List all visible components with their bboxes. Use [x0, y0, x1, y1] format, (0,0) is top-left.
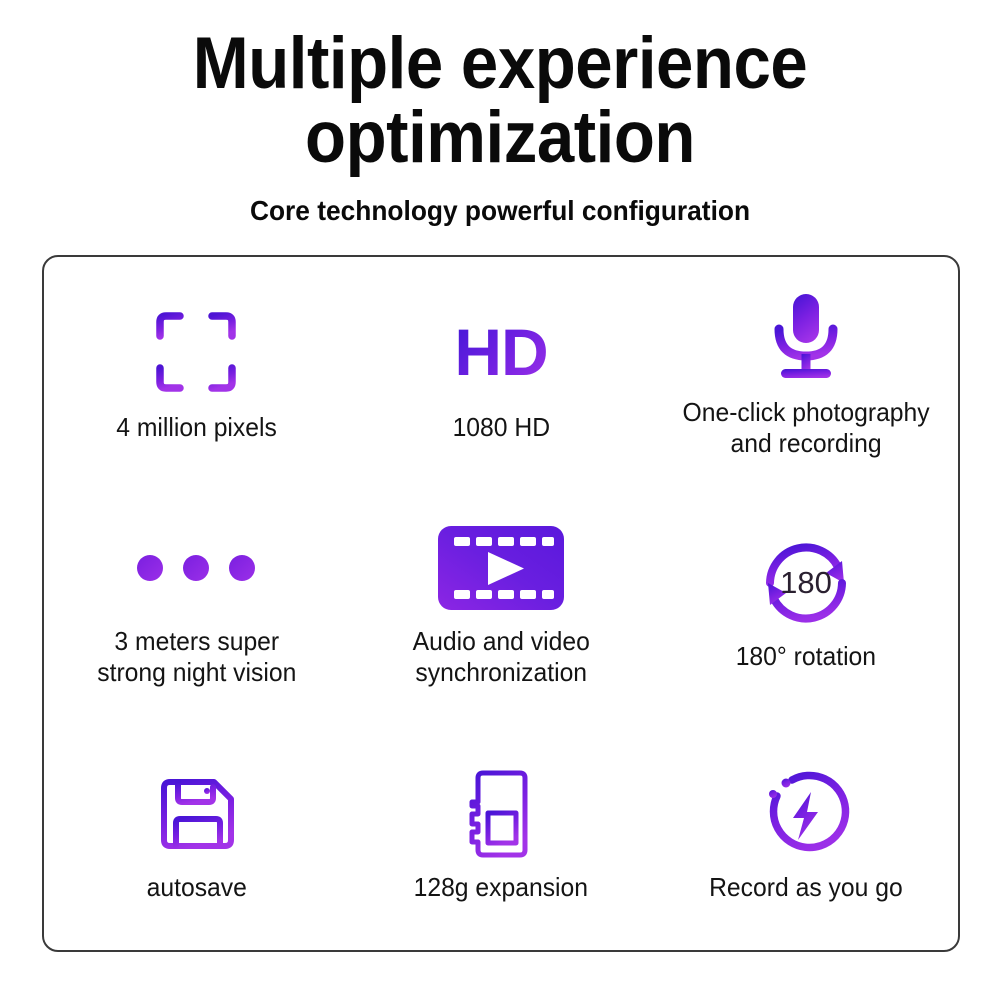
feature-poster: Multiple experience optimization Core te…: [0, 0, 1000, 1000]
header: Multiple experience optimization Core te…: [0, 28, 1000, 227]
page-title-line-2: optimization: [40, 102, 960, 174]
feature-label: 3 meters super strong night vision: [97, 626, 296, 687]
feature-item-180-rotation: 180 180° rotation: [653, 488, 958, 719]
page-title-line-1: Multiple experience: [40, 28, 960, 100]
feature-item-one-click-photography: One-click photography and recording: [653, 257, 958, 488]
dot-3: [229, 555, 255, 581]
feature-item-audio-video-sync: Audio and video synchronization: [349, 488, 654, 719]
lightning-circle-icon: [762, 766, 850, 862]
feature-card: 4 million pixels HD 1080 HD: [42, 255, 960, 952]
rotation-value-text: 180: [780, 565, 832, 600]
sd-card-icon: [464, 766, 538, 862]
hd-glyph: HD: [454, 319, 547, 385]
three-dots-icon: [137, 520, 255, 616]
feature-item-128g-expansion: 128g expansion: [349, 719, 654, 950]
floppy-disk-save-icon: [153, 766, 239, 862]
microphone-icon: [766, 287, 846, 387]
feature-label: 128g expansion: [414, 872, 588, 903]
feature-label: Record as you go: [709, 872, 903, 903]
feature-label: 1080 HD: [452, 412, 549, 443]
feature-label: One-click photography and recording: [682, 397, 929, 458]
dot-1: [137, 555, 163, 581]
dot-2: [183, 555, 209, 581]
feature-item-night-vision: 3 meters super strong night vision: [44, 488, 349, 719]
feature-label: Audio and video synchronization: [412, 626, 589, 687]
feature-grid: 4 million pixels HD 1080 HD: [44, 257, 958, 950]
scan-frame-icon: [153, 302, 239, 402]
feature-item-4-million-pixels: 4 million pixels: [44, 257, 349, 488]
hd-text-icon: HD: [454, 302, 547, 402]
rotation-180-icon: 180: [760, 535, 852, 631]
film-strip-play-icon: [438, 520, 564, 616]
feature-item-record-as-you-go: Record as you go: [653, 719, 958, 950]
feature-item-1080-hd: HD 1080 HD: [349, 257, 654, 488]
page-subtitle: Core technology powerful configuration: [30, 195, 970, 227]
feature-label: 4 million pixels: [116, 412, 277, 443]
feature-label: autosave: [146, 872, 246, 903]
feature-item-autosave: autosave: [44, 719, 349, 950]
feature-label: 180° rotation: [735, 641, 875, 672]
